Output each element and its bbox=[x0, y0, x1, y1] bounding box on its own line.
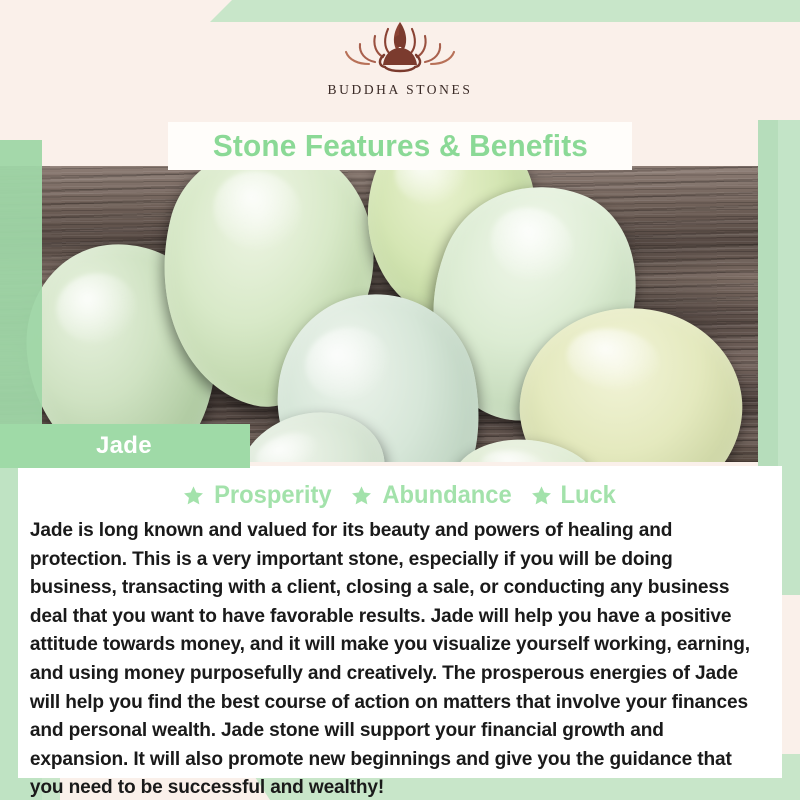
stone-name-bar: Jade bbox=[0, 424, 250, 468]
benefit-item: Luck bbox=[531, 481, 617, 510]
benefit-label: Abundance bbox=[382, 481, 511, 510]
benefits-row: Prosperity Abundance Luck bbox=[24, 478, 776, 512]
poster-root: BUDDHA STONES Stone Features & Benefits … bbox=[0, 0, 800, 800]
brand-header: BUDDHA STONES bbox=[0, 0, 800, 120]
benefit-item: Abundance bbox=[351, 481, 515, 510]
star-icon bbox=[183, 485, 204, 506]
benefit-label: Prosperity bbox=[214, 481, 331, 510]
title-banner: Stone Features & Benefits bbox=[168, 122, 632, 170]
benefit-item: Prosperity bbox=[183, 481, 335, 510]
lotus-meditation-icon bbox=[334, 16, 466, 78]
stone-name-label: Jade bbox=[96, 432, 152, 460]
description-paragraph: Jade is long known and valued for its be… bbox=[24, 516, 765, 800]
hero-photo bbox=[0, 166, 800, 462]
description-card: Prosperity Abundance Luck Jade is long k… bbox=[18, 466, 782, 778]
benefit-label: Luck bbox=[560, 481, 615, 510]
star-icon bbox=[531, 485, 552, 506]
star-icon bbox=[351, 485, 372, 506]
page-title: Stone Features & Benefits bbox=[212, 128, 587, 164]
brand-wordmark: BUDDHA STONES bbox=[328, 82, 473, 98]
